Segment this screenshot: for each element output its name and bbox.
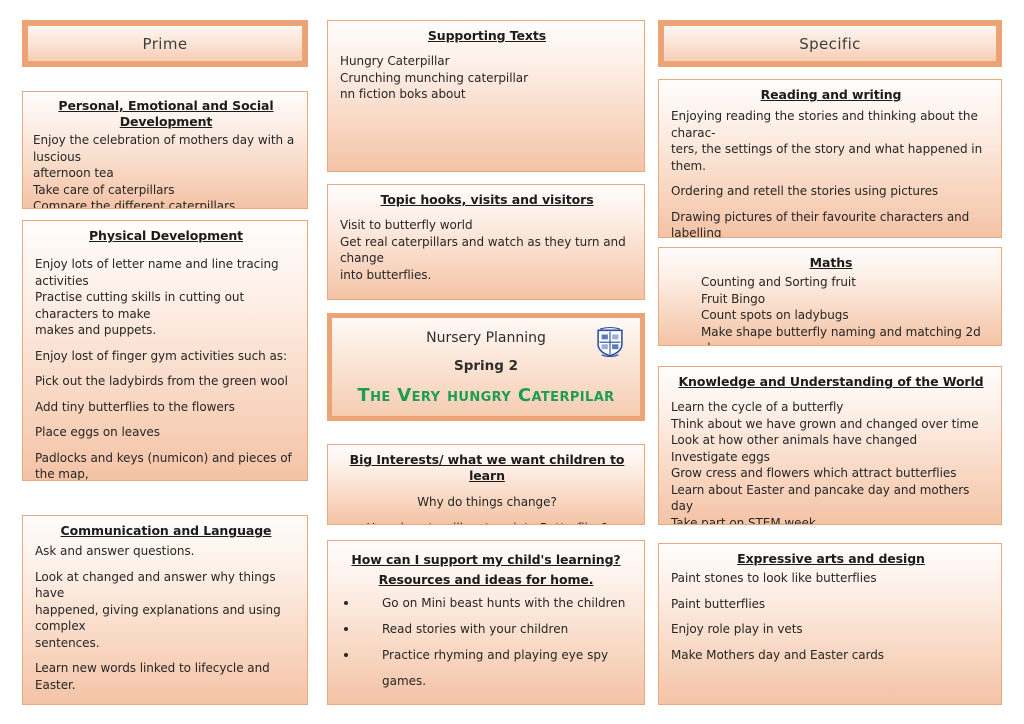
card-heading: Supporting Texts [340,28,634,44]
body-line: Look at changed and answer why things ha… [35,569,297,602]
card-knowledge-and-understanding-of-the-world: Knowledge and Understanding of the World… [658,366,1002,525]
body-line: Enjoy lots of letter name and line traci… [35,256,297,289]
card-subheading: Resources and ideas for home. [334,572,638,588]
body-line: nn fiction boks about [340,86,634,103]
body-line: Enjoy the celebration of mothers day wit… [33,132,299,165]
column-header-prime: Prime [22,20,308,67]
card-heading: Personal, Emotional and Social Developme… [33,98,299,130]
body-line: Get real caterpillars and watch as they … [340,234,634,267]
body-line: makes and puppets. [35,322,297,339]
body-line: Grow cress and flowers which attract but… [671,465,991,482]
body-line: sentences. [35,635,297,652]
body-line: Learn about Easter and pancake day and m… [671,482,991,515]
bullet-icon [344,627,348,631]
body-line: Take part on STEM week. [671,515,991,526]
body-line: Fruit Bingo [701,291,991,308]
body-line: Investigate eggs [671,449,991,466]
column-header-prime-label: Prime [143,35,188,53]
body-line: How do caterpillars turn into Butterflie… [340,520,634,526]
bullet-icon [344,653,348,657]
body-line: Count spots on ladybugs [701,307,991,324]
body-line: Counting and Sorting fruit [701,274,991,291]
card-expressive-arts-and-design: Expressive arts and design Paint stones … [658,543,1002,705]
card-heading: How can I support my child's learning? [334,552,638,568]
card-heading: Physical Development [35,228,297,244]
card-body: Counting and Sorting fruit Fruit Bingo C… [671,274,991,346]
body-line: Pick out the ladybirds from the green wo… [35,373,297,390]
body-line: Paint butterflies [671,596,991,613]
card-heading: Big Interests/ what we want children to … [340,452,634,484]
body-line: Ordering and retell the stories using pi… [671,183,991,200]
list-item: Go on Mini beast hunts with the children [334,590,638,616]
body-line: Practise cutting skills in cutting out c… [35,289,297,322]
body-line: Padlocks and keys (numicon) and pieces o… [35,450,297,482]
card-body: Why do things change? How do caterpillar… [340,494,634,525]
card-maths: Maths Counting and Sorting fruit Fruit B… [658,247,1002,346]
card-heading: Topic hooks, visits and visitors [340,192,634,208]
card-body: Visit to butterfly world Get real caterp… [340,217,634,283]
body-line: Enjoy lost of finger gym activities such… [35,348,297,365]
body-line: Compare the different caterpillars [33,198,299,209]
body-line: Think about we have grown and changed ov… [671,416,991,433]
body-line: Learn the cycle of a butterfly [671,399,991,416]
card-heading: Knowledge and Understanding of the World [671,374,991,390]
card-how-can-i-support-my-childs-learning: How can I support my child's learning? R… [327,540,645,705]
body-line: ters, the settings of the story and what… [671,141,991,174]
card-body: Enjoy lots of letter name and line traci… [35,256,297,481]
list-item-label: Read stories with your children [382,622,568,636]
card-body: Enjoy the celebration of mothers day wit… [33,132,299,209]
body-line: Take care of caterpillars [33,182,299,199]
body-line: afternoon tea [33,165,299,182]
body-line: happened, giving explanations and using … [35,602,297,635]
card-heading: Communication and Language [35,523,297,539]
title-line-2: Spring 2 [332,356,640,376]
body-line: Hungry Caterpillar [340,53,634,70]
card-body: Ask and answer questions. Look at change… [35,543,297,693]
body-line: Drawing pictures of their favourite char… [671,209,991,239]
list-item-label: Practice rhyming and playing eye spy gam… [382,648,608,688]
body-line: Paint stones to look like butterflies [671,570,991,587]
column-header-specific: Specific [658,20,1002,67]
card-heading: Reading and writing [671,87,991,103]
body-line: Visit to butterfly world [340,217,634,234]
card-physical-development: Physical Development Enjoy lots of lette… [22,220,308,481]
title-card-nursery-planning: Nursery Planning Spring 2 The Very hungr… [327,313,645,421]
body-line: Make Mothers day and Easter cards [671,647,991,664]
card-personal-emotional-social-development: Personal, Emotional and Social Developme… [22,91,308,209]
card-big-interests: Big Interests/ what we want children to … [327,444,645,525]
card-topic-hooks-visits-and-visitors: Topic hooks, visits and visitors Visit t… [327,184,645,300]
body-line: Make shape butterfly naming and matching… [701,324,991,347]
card-body: Enjoying reading the stories and thinkin… [671,108,991,238]
column-header-specific-label: Specific [799,35,861,53]
body-line: Add tiny butterflies to the flowers [35,399,297,416]
list-item: Practice rhyming and playing eye spy gam… [334,642,638,694]
planning-sheet: Prime Specific Personal, Emotional and S… [0,0,1024,724]
card-supporting-texts: Supporting Texts Hungry Caterpillar Crun… [327,20,645,172]
card-body: Paint stones to look like butterflies Pa… [671,570,991,663]
card-communication-and-language: Communication and Language Ask and answe… [22,515,308,705]
bullet-icon [344,601,348,605]
body-line: Enjoy role play in vets [671,621,991,638]
body-line: Learn new words linked to lifecycle and … [35,660,297,693]
card-reading-and-writing: Reading and writing Enjoying reading the… [658,79,1002,238]
body-line: Why do things change? [340,494,634,511]
body-line: Place eggs on leaves [35,424,297,441]
school-crest-icon [596,326,624,357]
body-line: Crunching munching caterpillar [340,70,634,87]
title-line-1: Nursery Planning [332,328,640,348]
body-line: Ask and answer questions. [35,543,297,560]
body-line: Look at how other animals have changed [671,432,991,449]
body-line: into butterflies. [340,267,634,284]
card-heading: Maths [671,255,991,271]
card-heading: Expressive arts and design [671,551,991,567]
card-body: Learn the cycle of a butterfly Think abo… [671,399,991,525]
title-topic: The Very hungry Caterpilar [332,385,640,406]
list-item: Read stories with your children [334,616,638,642]
body-line: Enjoying reading the stories and thinkin… [671,108,991,141]
resource-list: Go on Mini beast hunts with the children… [334,590,638,694]
card-body: Hungry Caterpillar Crunching munching ca… [340,53,634,103]
list-item-label: Go on Mini beast hunts with the children [382,596,625,610]
